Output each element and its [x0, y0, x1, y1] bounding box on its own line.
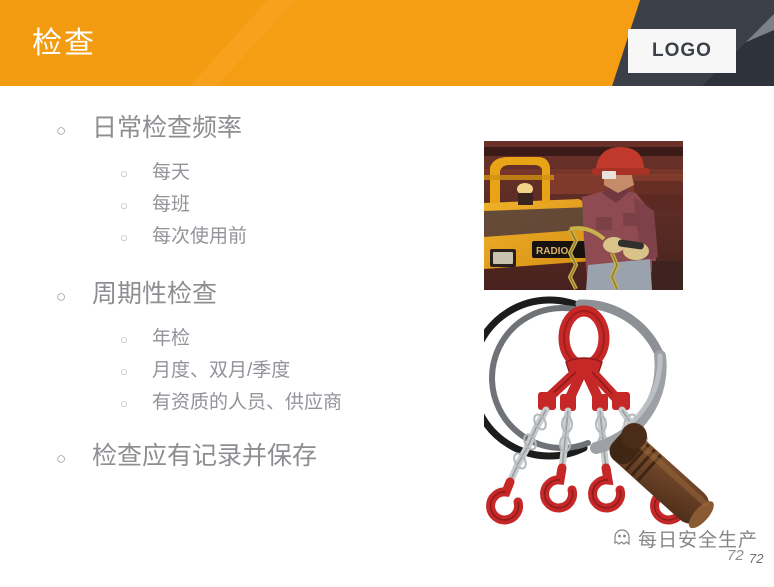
bullet-sub-label: 每次使用前	[152, 221, 247, 252]
bullet-heading-label: 检查应有记录并保存	[92, 440, 317, 472]
bullet-heading-label: 日常检查频率	[92, 112, 242, 144]
bullet-sub-label: 每班	[152, 189, 190, 220]
page-number-secondary: 72	[749, 551, 763, 566]
bullet-group-3: ○ 检查应有记录并保存	[0, 440, 470, 475]
bullet-group-1: ○ 日常检查频率 ○ 每天 ○ 每班 ○ 每次使用前	[0, 112, 470, 253]
illustration-content	[484, 296, 772, 530]
bullet-heading-2: ○ 周期性检查	[56, 278, 470, 313]
page-number: 72	[727, 547, 744, 564]
bullet-heading-3: ○ 检查应有记录并保存	[56, 440, 470, 475]
bullet-sub-item: ○ 有资质的人员、供应商	[120, 387, 470, 419]
magnifier-chain-sling-illustration	[484, 296, 772, 530]
bullet-sub-label: 有资质的人员、供应商	[152, 387, 342, 418]
bullet-sub-item: ○ 每天	[120, 157, 470, 189]
bullet-marker-icon: ○	[120, 158, 152, 189]
bullet-marker-icon: ○	[56, 281, 92, 313]
page-title: 检查	[32, 26, 96, 62]
content-bullets: ○ 日常检查频率 ○ 每天 ○ 每班 ○ 每次使用前 ○ 周期性检查	[0, 88, 470, 587]
bullet-sub-label: 年检	[152, 323, 190, 354]
bullet-group-2: ○ 周期性检查 ○ 年检 ○ 月度、双月/季度 ○ 有资质的人员、供应商	[0, 278, 470, 419]
bullet-marker-icon: ○	[120, 222, 152, 253]
photo-content: RADIO	[484, 141, 683, 290]
bullet-heading-1: ○ 日常检查频率	[56, 112, 470, 147]
bullet-sub-item: ○ 每次使用前	[120, 221, 470, 253]
worker-inspecting-chain-photo: RADIO	[484, 141, 683, 290]
ghost-blob-icon	[612, 526, 632, 551]
bullet-marker-icon: ○	[120, 190, 152, 221]
logo-badge[interactable]: LOGO	[628, 29, 736, 73]
bullet-sub-item: ○ 年检	[120, 323, 470, 355]
bullet-marker-icon: ○	[120, 356, 152, 387]
bullet-marker-icon: ○	[56, 115, 92, 147]
svg-text:RADIO: RADIO	[536, 246, 568, 257]
bullet-marker-icon: ○	[56, 443, 92, 475]
bullet-sub-label: 每天	[152, 157, 190, 188]
bullet-marker-icon: ○	[120, 324, 152, 355]
slide-header: 检查 LOGO	[0, 0, 774, 88]
bullet-sub-label: 月度、双月/季度	[152, 355, 290, 386]
bullet-marker-icon: ○	[120, 388, 152, 419]
logo-label: LOGO	[652, 40, 712, 62]
slide-root: 检查 LOGO ○ 日常检查频率 ○ 每天 ○ 每班 ○ 每次使用前	[0, 0, 774, 587]
bullet-sub-item: ○ 月度、双月/季度	[120, 355, 470, 387]
bullet-sub-item: ○ 每班	[120, 189, 470, 221]
bullet-heading-label: 周期性检查	[92, 278, 217, 310]
